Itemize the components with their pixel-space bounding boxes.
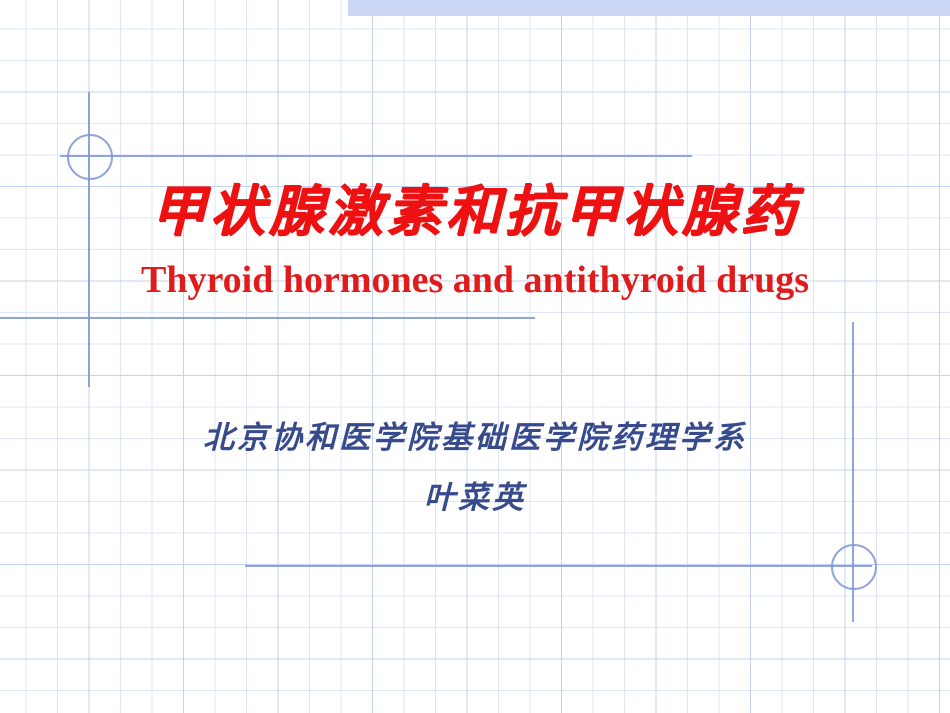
decorative-rule-top-horizontal xyxy=(60,155,692,157)
presentation-title-slide: 甲状腺激素和抗甲状腺药 Thyroid hormones and antithy… xyxy=(0,0,950,713)
decorative-circle-top-left-icon xyxy=(67,134,113,180)
author-name: 叶菜英 xyxy=(0,478,950,518)
decorative-rule-middle-horizontal xyxy=(0,317,535,319)
top-accent-band xyxy=(348,0,950,16)
slide-title-english: Thyroid hormones and antithyroid drugs xyxy=(0,258,950,302)
decorative-rule-bottom-horizontal xyxy=(245,565,872,567)
slide-title-chinese: 甲状腺激素和抗甲状腺药 xyxy=(0,178,950,244)
author-affiliation: 北京协和医学院基础医学院药理学系 xyxy=(0,418,950,458)
decorative-circle-bottom-right-icon xyxy=(831,544,877,590)
